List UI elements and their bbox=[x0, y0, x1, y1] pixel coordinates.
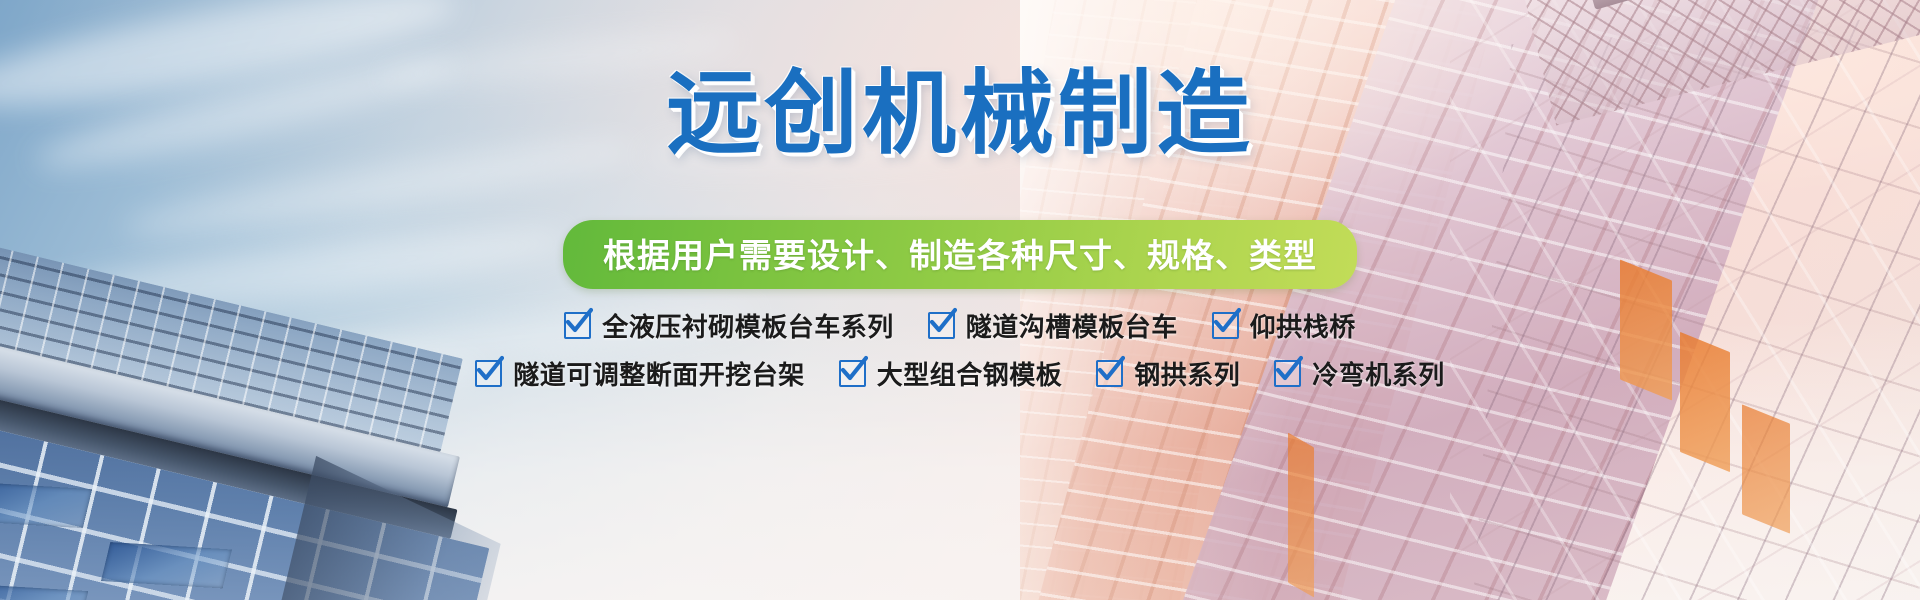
feature-label: 隧道沟槽模板台车 bbox=[966, 307, 1178, 344]
banner-subtitle-wrap: 根据用户需要设计、制造各种尺寸、规格、类型 bbox=[0, 220, 1920, 289]
feature-item[interactable]: 隧道沟槽模板台车 bbox=[928, 307, 1178, 344]
banner-title: 远创机械制造 bbox=[0, 68, 1920, 160]
checked-checkbox-icon[interactable] bbox=[1096, 360, 1123, 387]
banner-content: 远创机械制造 根据用户需要设计、制造各种尺寸、规格、类型 全液压衬砌模板台车系列… bbox=[0, 0, 1920, 600]
promo-banner: 远创机械制造 根据用户需要设计、制造各种尺寸、规格、类型 全液压衬砌模板台车系列… bbox=[0, 0, 1920, 600]
checked-checkbox-icon[interactable] bbox=[1274, 360, 1301, 387]
checked-checkbox-icon[interactable] bbox=[1212, 312, 1239, 339]
feature-label: 仰拱栈桥 bbox=[1250, 307, 1356, 344]
checked-checkbox-icon[interactable] bbox=[928, 312, 955, 339]
feature-item[interactable]: 隧道可调整断面开挖台架 bbox=[475, 355, 805, 392]
banner-title-text: 远创机械制造 bbox=[666, 68, 1254, 160]
feature-item[interactable]: 钢拱系列 bbox=[1096, 355, 1240, 392]
feature-item[interactable]: 大型组合钢模板 bbox=[839, 355, 1063, 392]
banner-subtitle-pill: 根据用户需要设计、制造各种尺寸、规格、类型 bbox=[563, 220, 1357, 289]
checked-checkbox-icon[interactable] bbox=[839, 360, 866, 387]
feature-item[interactable]: 冷弯机系列 bbox=[1274, 355, 1445, 392]
feature-row-2: 隧道可调整断面开挖台架 大型组合钢模板 钢拱系列 冷弯机系列 bbox=[0, 355, 1920, 392]
feature-label: 全液压衬砌模板台车系列 bbox=[602, 307, 894, 344]
feature-label: 钢拱系列 bbox=[1134, 355, 1240, 392]
feature-label: 大型组合钢模板 bbox=[877, 355, 1063, 392]
feature-label: 隧道可调整断面开挖台架 bbox=[513, 355, 805, 392]
feature-item[interactable]: 仰拱栈桥 bbox=[1212, 307, 1356, 344]
feature-row-1: 全液压衬砌模板台车系列 隧道沟槽模板台车 仰拱栈桥 bbox=[0, 307, 1920, 344]
feature-item[interactable]: 全液压衬砌模板台车系列 bbox=[564, 307, 894, 344]
feature-label: 冷弯机系列 bbox=[1312, 355, 1445, 392]
checked-checkbox-icon[interactable] bbox=[475, 360, 502, 387]
checked-checkbox-icon[interactable] bbox=[564, 312, 591, 339]
